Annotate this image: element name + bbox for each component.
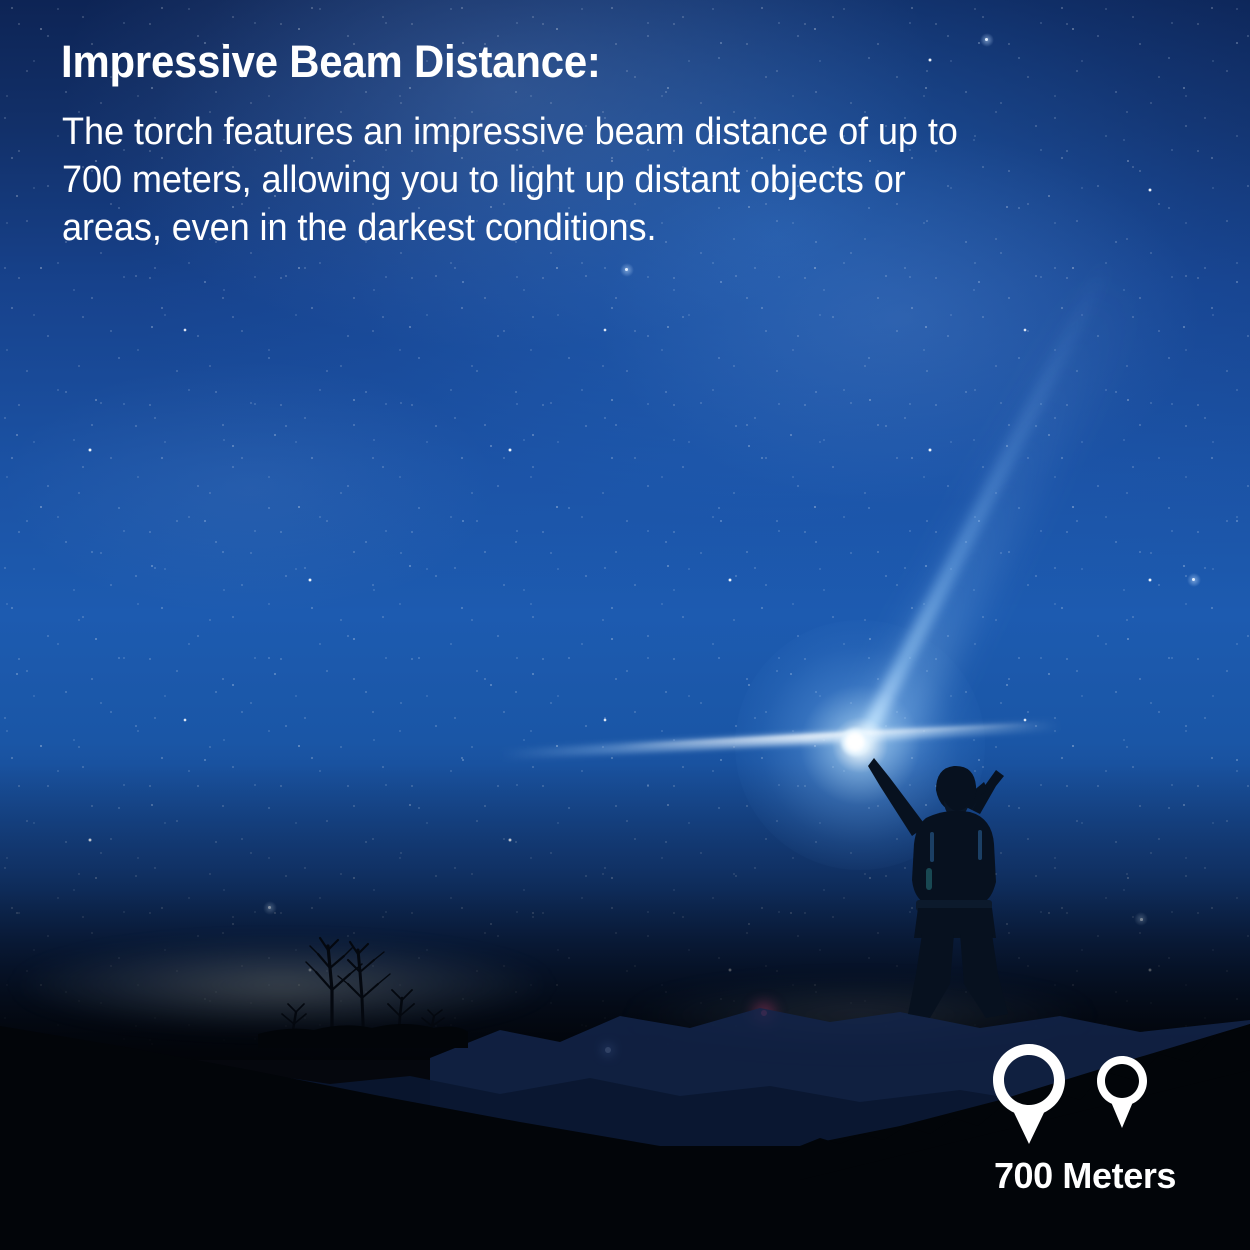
description-line-1: The torch features an impressive beam di… bbox=[62, 108, 1164, 156]
bare-tree-silhouette bbox=[258, 928, 468, 1048]
description-text: The torch features an impressive beam di… bbox=[62, 108, 1164, 252]
page-title: Impressive Beam Distance: bbox=[61, 36, 1103, 88]
map-pin-icon bbox=[991, 1042, 1067, 1146]
person-with-torch-silhouette bbox=[868, 752, 1048, 1020]
map-pin-icon bbox=[1095, 1054, 1149, 1130]
description-line-2: 700 meters, allowing you to light up dis… bbox=[62, 156, 1164, 204]
distance-badge-label: 700 Meters bbox=[975, 1156, 1195, 1196]
distance-badge: 700 Meters bbox=[975, 1040, 1195, 1210]
distance-badge-pins bbox=[975, 1040, 1195, 1155]
description-line-3: areas, even in the darkest conditions. bbox=[62, 204, 1164, 252]
promo-banner: Impressive Beam Distance: The torch feat… bbox=[0, 0, 1250, 1250]
